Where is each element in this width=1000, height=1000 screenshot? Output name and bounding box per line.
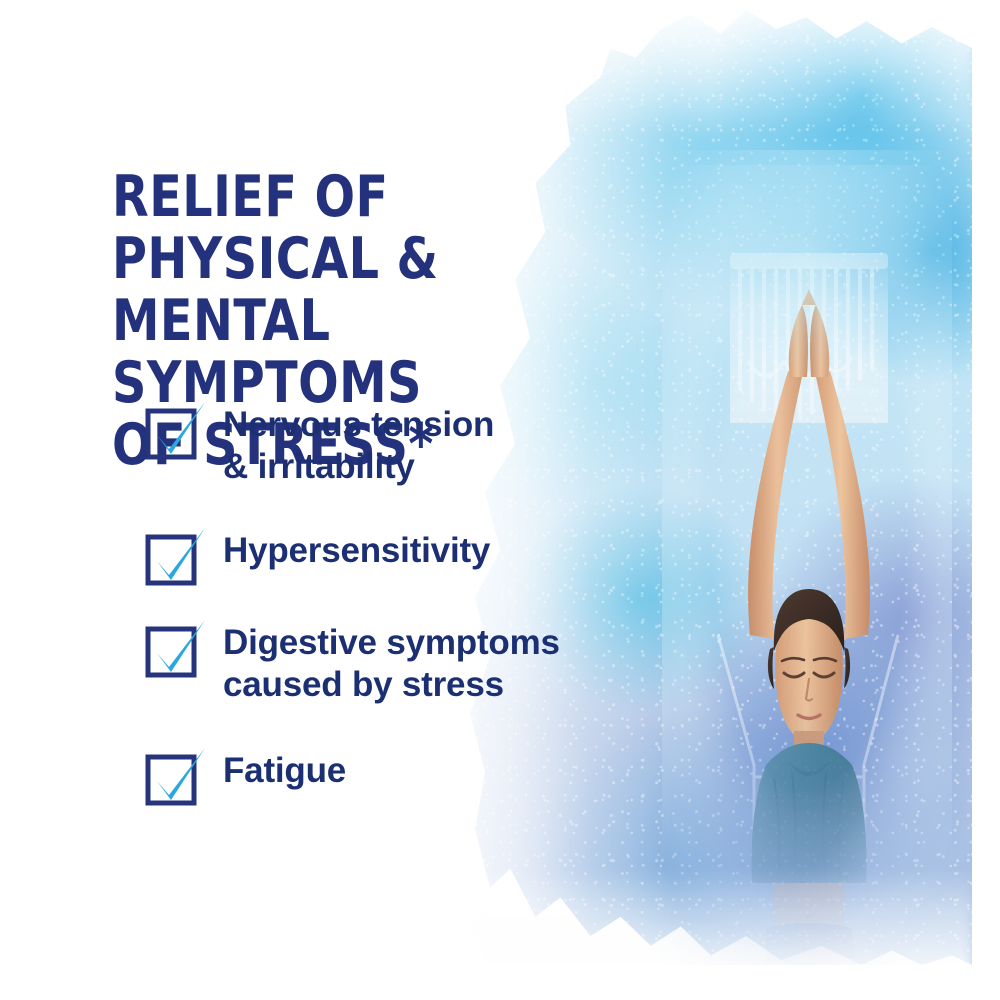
wash-top-feather-edge: [470, 0, 972, 135]
list-item-label: Nervous tension & irritability: [223, 398, 494, 488]
list-item-label: Fatigue: [223, 744, 346, 792]
wash-bottom-feather-edge: [470, 869, 972, 966]
list-item: Nervous tension & irritability: [145, 398, 665, 488]
list-item-label: Hypersensitivity: [223, 524, 490, 572]
list-item: Fatigue: [145, 744, 665, 806]
checked-checkbox-icon: [145, 528, 207, 586]
list-item: Digestive symptoms caused by stress: [145, 616, 665, 706]
list-item-label: Digestive symptoms caused by stress: [223, 616, 560, 706]
yoga-woman-photo: [662, 165, 952, 965]
benefits-checklist: Nervous tension & irritability Hypersens…: [145, 398, 665, 806]
checked-checkbox-icon: [145, 620, 207, 678]
checked-checkbox-icon: [145, 748, 207, 806]
promo-canvas: RELIEF OF PHYSICAL & MENTAL SYMPTOMS OF …: [0, 0, 1000, 1000]
checked-checkbox-icon: [145, 402, 207, 460]
list-item: Hypersensitivity: [145, 524, 665, 586]
